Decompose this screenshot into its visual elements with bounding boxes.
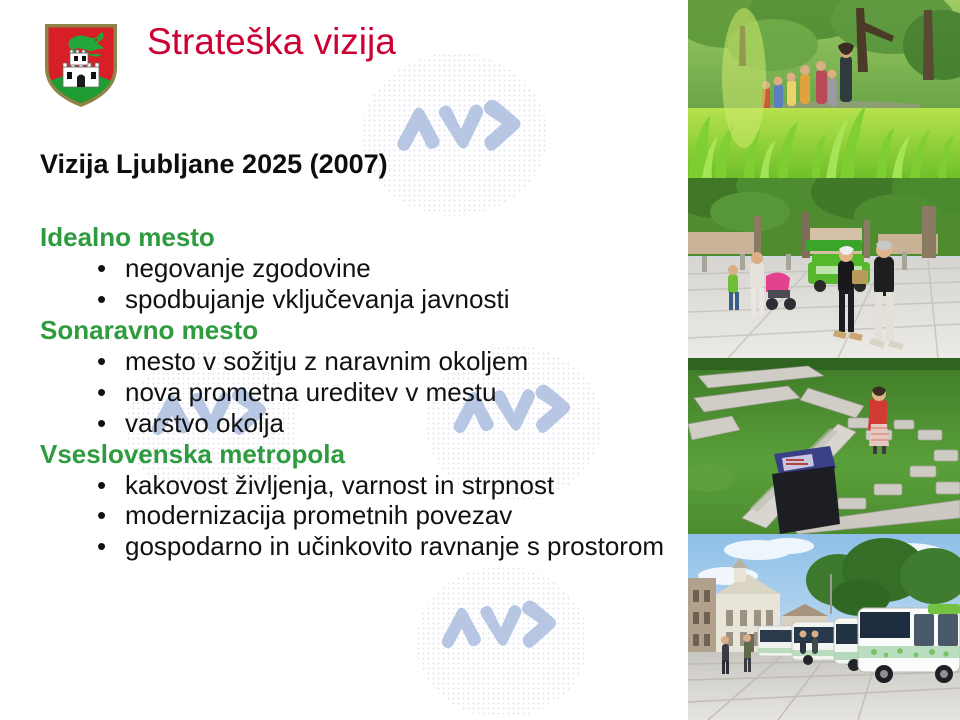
list-item: • negovanje zgodovine [40,253,680,284]
page-title: Strateška vizija [147,22,396,63]
photo-pedestrian-plaza-kavalir [688,178,960,358]
list-item: • spodbujanje vključevanja javnosti [40,284,680,315]
bullet-dot-icon: • [97,284,106,315]
bullet-dot-icon: • [97,377,106,408]
bullet-dot-icon: • [97,408,106,439]
bullet-list: • kakovost življenja, varnost in strpnos… [40,470,680,563]
list-item: • nova prometna ureditev v mestu [40,377,680,408]
list-item: • modernizacija prometnih povezav [40,500,680,531]
group-heading: Sonaravno mesto [40,315,680,346]
list-item: • kakovost življenja, varnost in strpnos… [40,470,680,501]
list-item-label: mesto v sožitju z naravnim okoljem [125,346,528,376]
outline-group-sonaravno-mesto: Sonaravno mesto • mesto v sožitju z nara… [40,315,680,439]
list-item: • varstvo okolja [40,408,680,439]
slide-subtitle: Vizija Ljubljane 2025 (2007) [40,149,388,180]
list-item-label: nova prometna ureditev v mestu [125,377,496,407]
bullet-dot-icon: • [97,470,106,501]
presentation-slide: Strateška vizija Vizija Ljubljane 2025 (… [0,0,960,720]
list-item-label: kakovost življenja, varnost in strpnost [125,470,554,500]
outline-group-vseslovenska-metropola: Vseslovenska metropola • kakovost življe… [40,439,680,563]
group-heading: Vseslovenska metropola [40,439,680,470]
list-item-label: gospodarno in učinkovito ravnanje s pros… [125,531,664,561]
bullet-list: • mesto v sožitju z naravnim okoljem • n… [40,346,680,439]
group-heading: Idealno mesto [40,222,680,253]
slide-content-area: Strateška vizija Vizija Ljubljane 2025 (… [0,0,688,720]
list-item: • gospodarno in učinkovito ravnanje s pr… [40,531,680,562]
list-item-label: varstvo okolja [125,408,284,438]
list-item: • mesto v sožitju z naravnim okoljem [40,346,680,377]
bullet-dot-icon: • [97,531,106,562]
photo-roman-ruins [688,358,960,534]
photo-children-in-park [688,0,960,178]
photo-strip [688,0,960,720]
outline-group-idealno-mesto: Idealno mesto • negovanje zgodovine • sp… [40,222,680,315]
outline-list: Idealno mesto • negovanje zgodovine • sp… [40,222,680,562]
ljubljana-coat-of-arms-icon [41,21,121,108]
bullet-dot-icon: • [97,253,106,284]
bullet-dot-icon: • [97,500,106,531]
list-item-label: spodbujanje vključevanja javnosti [125,284,509,314]
bullet-dot-icon: • [97,346,106,377]
bullet-list: • negovanje zgodovine • spodbujanje vklj… [40,253,680,315]
list-item-label: modernizacija prometnih povezav [125,500,512,530]
list-item-label: negovanje zgodovine [125,253,371,283]
photo-city-buses [688,534,960,720]
